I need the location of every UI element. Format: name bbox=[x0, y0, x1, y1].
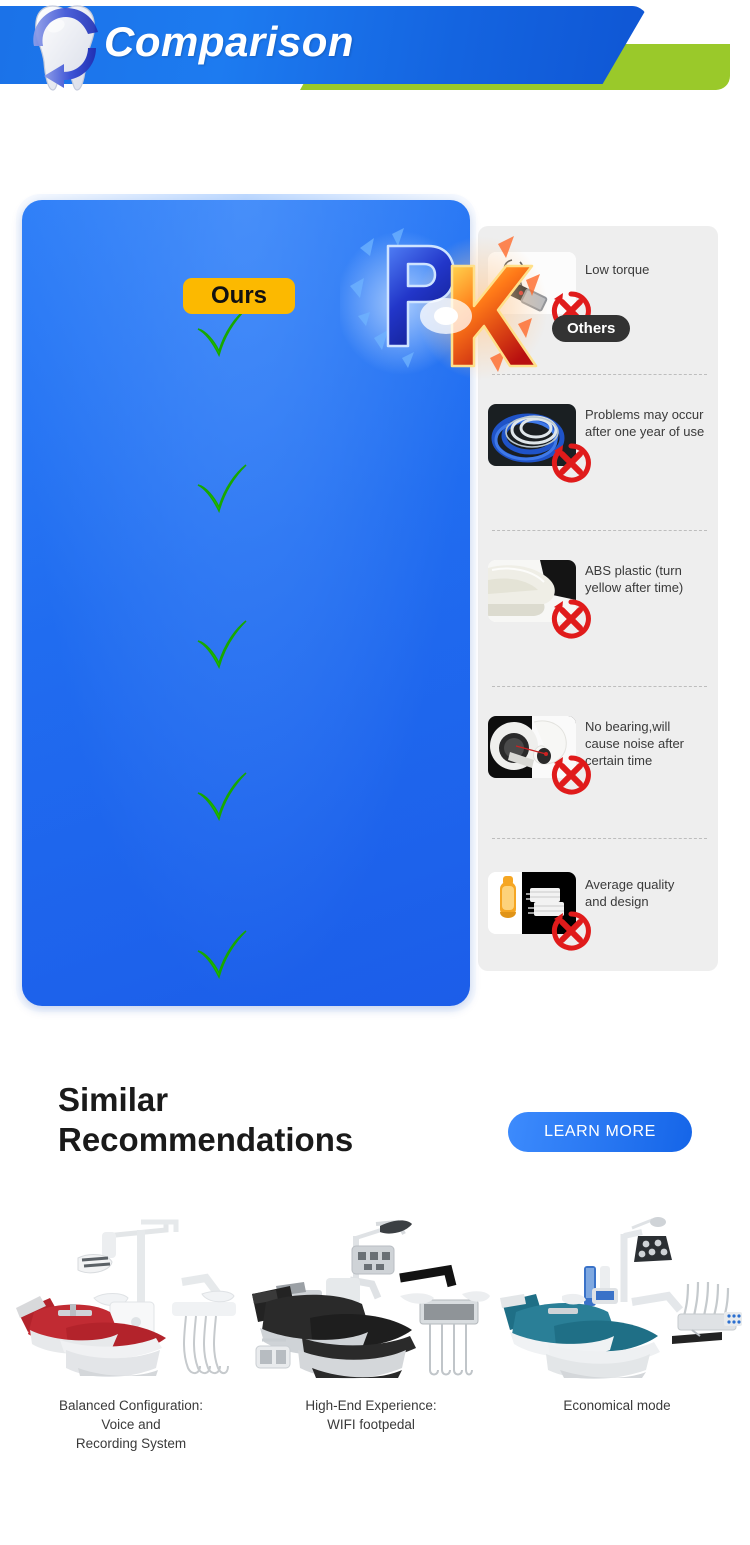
recommendations-title: Similar Recommendations bbox=[58, 1080, 353, 1160]
others-row-motor: Low torque bbox=[488, 252, 738, 314]
red-x-icon bbox=[550, 910, 592, 952]
black-dental-chair-photo bbox=[246, 1190, 496, 1390]
others-row-tubes: Problems may occur after one year of use bbox=[488, 404, 738, 466]
others-row-divider bbox=[492, 530, 707, 531]
product-caption: Economical mode bbox=[492, 1396, 742, 1415]
others-row-spare-parts: Average quality and design bbox=[488, 872, 738, 934]
page-header: Comparison bbox=[0, 0, 750, 96]
comparison-section: Ours Others bbox=[0, 96, 750, 1026]
others-row-lamp-bearing: No bearing,will cause noise after certai… bbox=[488, 716, 738, 778]
product-card[interactable]: Economical mode bbox=[492, 1190, 742, 1415]
teal-dental-chair-photo bbox=[492, 1190, 742, 1390]
others-text: ABS plastic (turn yellow after time) bbox=[585, 560, 695, 596]
comparison-page: Comparison Ours Others bbox=[0, 0, 750, 1545]
red-x-icon bbox=[550, 754, 592, 796]
others-row-divider bbox=[492, 686, 707, 687]
others-row-white-plastic: ABS plastic (turn yellow after time) bbox=[488, 560, 738, 622]
others-row-divider bbox=[492, 374, 707, 375]
green-check-icon bbox=[192, 767, 250, 825]
others-row-divider bbox=[492, 838, 707, 839]
product-caption: High-End Experience: WIFI footpedal bbox=[246, 1396, 496, 1434]
others-text: Average quality and design bbox=[585, 872, 695, 910]
others-text: No bearing,will cause noise after certai… bbox=[585, 716, 703, 769]
product-card[interactable]: High-End Experience: WIFI footpedal bbox=[246, 1190, 496, 1434]
product-caption: Balanced Configuration: Voice and Record… bbox=[6, 1396, 256, 1453]
green-check-icon bbox=[192, 459, 250, 517]
ours-badge: Ours bbox=[183, 278, 295, 314]
product-card[interactable]: Balanced Configuration: Voice and Record… bbox=[6, 1190, 256, 1453]
others-text: Problems may occur after one year of use bbox=[585, 404, 705, 440]
red-dental-chair-photo bbox=[6, 1190, 256, 1390]
others-text: Low torque bbox=[585, 252, 649, 278]
page-title: Comparison bbox=[104, 18, 354, 66]
green-check-icon bbox=[192, 925, 250, 983]
red-x-icon bbox=[550, 442, 592, 484]
learn-more-button[interactable]: LEARN MORE bbox=[508, 1112, 692, 1152]
others-badge: Others bbox=[552, 315, 630, 342]
tooth-arrow-icon bbox=[26, 0, 104, 96]
red-x-icon bbox=[550, 598, 592, 640]
green-check-icon bbox=[192, 615, 250, 673]
